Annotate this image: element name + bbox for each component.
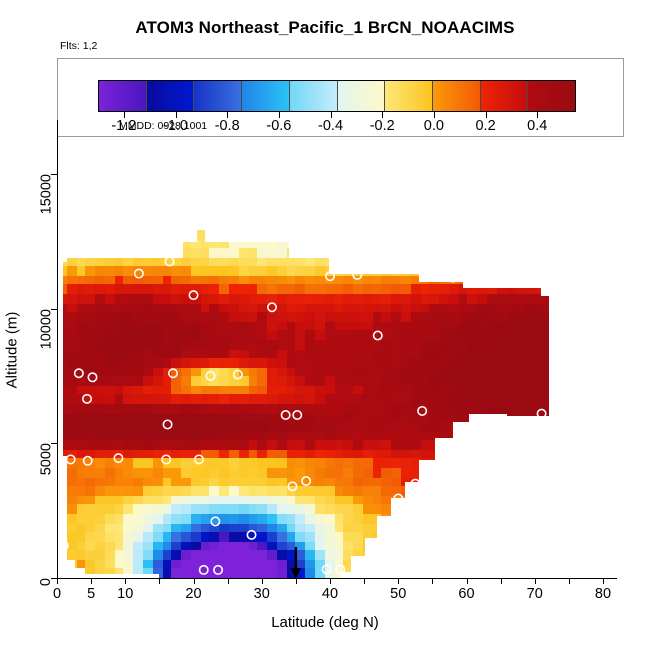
- x-tick-label: 30: [254, 586, 270, 602]
- x-tick: [432, 578, 433, 584]
- x-tick-label: 20: [185, 586, 201, 602]
- x-tick: [296, 578, 297, 584]
- x-tick-label: 0: [53, 586, 61, 602]
- x-axis-line: [57, 578, 617, 579]
- y-tick-label: 5000: [45, 443, 46, 444]
- x-tick: [57, 578, 58, 584]
- x-tick-label: 60: [458, 586, 474, 602]
- x-tick: [228, 578, 229, 584]
- y-axis-label-text: Altitude (m): [4, 312, 21, 389]
- x-tick: [364, 578, 365, 584]
- x-tick-label: 50: [390, 586, 406, 602]
- heatmap-canvas: [57, 120, 603, 578]
- x-tick: [159, 578, 160, 584]
- x-tick: [467, 578, 468, 584]
- x-tick-label: 40: [322, 586, 338, 602]
- x-tick: [330, 578, 331, 584]
- x-axis-label: Latitude (deg N): [0, 614, 650, 631]
- y-tick-label: 0: [45, 578, 46, 579]
- y-axis-line: [57, 120, 58, 578]
- x-tick-label: 10: [117, 586, 133, 602]
- x-tick: [125, 578, 126, 584]
- y-tick-label: 10000: [45, 309, 46, 310]
- y-tick-label: 15000: [45, 174, 46, 175]
- x-tick-label: 5: [87, 586, 95, 602]
- plot-area: 051020304050607080 050001000015000 Latit…: [0, 0, 650, 650]
- x-tick: [194, 578, 195, 584]
- x-tick: [262, 578, 263, 584]
- x-tick-label: 70: [527, 586, 543, 602]
- x-tick: [501, 578, 502, 584]
- x-tick: [91, 578, 92, 584]
- x-tick: [398, 578, 399, 584]
- x-tick-label: 80: [595, 586, 611, 602]
- x-tick: [569, 578, 570, 584]
- x-tick: [535, 578, 536, 584]
- chart-root: ATOM3 Northeast_Pacific_1 BrCN_NOAACIMS …: [0, 0, 650, 650]
- x-tick: [603, 578, 604, 584]
